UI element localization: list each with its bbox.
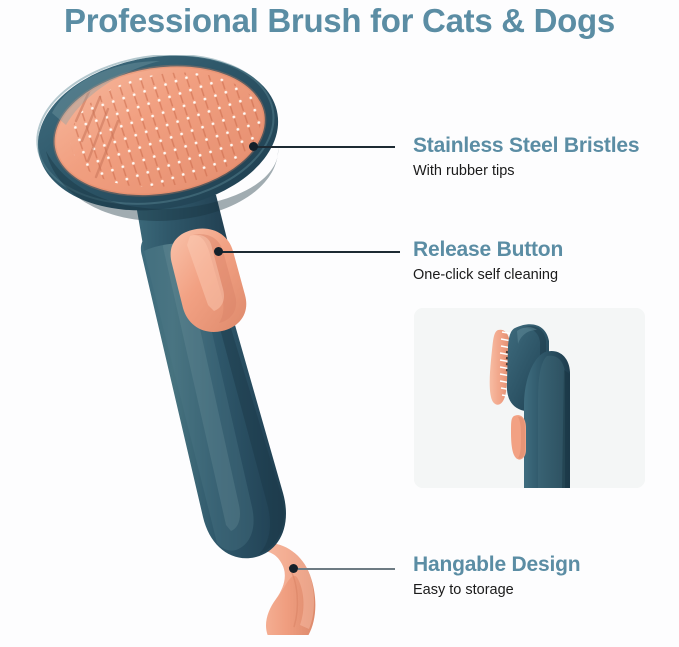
- callout-title-release: Release Button: [413, 238, 563, 261]
- leader-line-release: [222, 251, 400, 253]
- page-title: Professional Brush for Cats & Dogs: [0, 2, 679, 40]
- callout-subtitle-bristles: With rubber tips: [413, 164, 639, 180]
- product-illustration: [30, 55, 400, 635]
- hanging-loop: [259, 543, 315, 635]
- inset-side-view-card: [414, 308, 645, 488]
- callout-subtitle-release: One-click self cleaning: [413, 268, 563, 284]
- inset-release-button: [511, 415, 526, 459]
- inset-handle: [524, 351, 570, 488]
- leader-line-bristles: [256, 146, 395, 148]
- leader-dot-bristles: [249, 142, 258, 151]
- inset-side-view-svg: [414, 308, 645, 488]
- callout-title-bristles: Stainless Steel Bristles: [413, 134, 639, 157]
- callout-title-hangable: Hangable Design: [413, 553, 580, 576]
- leader-dot-release: [214, 247, 223, 256]
- leader-line-hangable: [298, 568, 395, 570]
- leader-dot-hangable: [289, 564, 298, 573]
- callout-stainless-steel-bristles: Stainless Steel Bristles With rubber tip…: [413, 134, 639, 180]
- brush-illustration-svg: [30, 55, 400, 635]
- callout-hangable-design: Hangable Design Easy to storage: [413, 553, 580, 599]
- callout-subtitle-hangable: Easy to storage: [413, 583, 580, 599]
- product-infographic: Professional Brush for Cats & Dogs: [0, 0, 679, 647]
- brush-head: [30, 55, 289, 227]
- callout-release-button: Release Button One-click self cleaning: [413, 238, 563, 284]
